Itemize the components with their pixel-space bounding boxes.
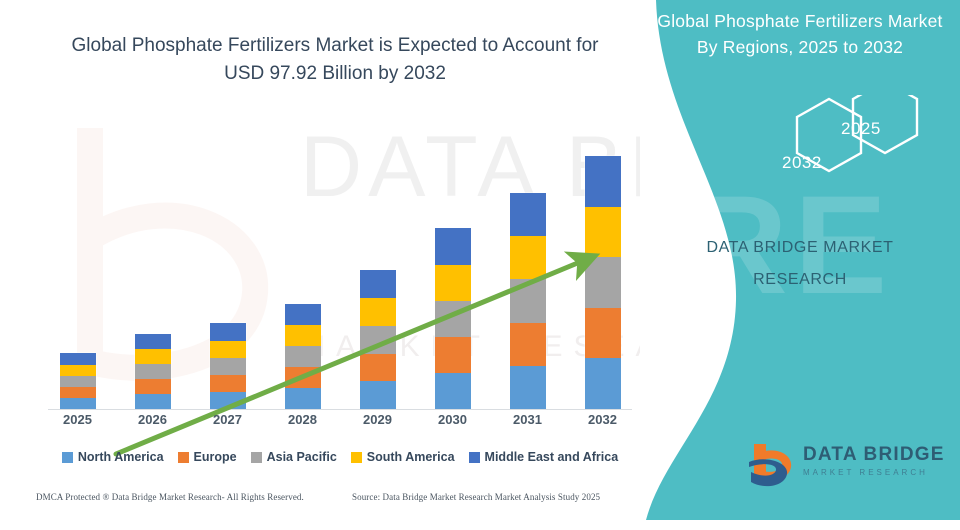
bar-segment-2032-s1 [585,308,621,359]
bar-segment-2028-s3 [285,325,321,346]
footer-source: Source: Data Bridge Market Research Mark… [352,492,600,502]
legend-label: Europe [194,450,237,464]
bar-segment-2029-s0 [360,381,396,409]
x-axis-label-2027: 2027 [198,412,258,427]
bar-2026 [135,334,171,409]
data-bridge-logo-icon [745,440,799,492]
bar-segment-2032-s0 [585,358,621,409]
bar-segment-2028-s4 [285,304,321,325]
bar-segment-2029-s1 [360,354,396,382]
bar-segment-2027-s1 [210,375,246,392]
bar-segment-2027-s3 [210,341,246,358]
bar-segment-2025-s3 [60,365,96,376]
bar-segment-2027-s2 [210,358,246,375]
panel-brand-line2: RESEARCH [640,264,960,296]
bar-2028 [285,304,321,409]
bar-2029 [360,270,396,409]
legend-label: South America [367,450,455,464]
hexagon-shapes [755,95,945,205]
legend-label: North America [78,450,164,464]
bar-segment-2030-s0 [435,373,471,409]
x-axis-line [48,409,632,410]
x-axis-label-2030: 2030 [423,412,483,427]
legend-swatch-icon [469,452,480,463]
bar-segment-2032-s3 [585,207,621,258]
x-axis-label-2032: 2032 [573,412,633,427]
panel-brand-line1: DATA BRIDGE MARKET [706,239,893,256]
bar-segment-2025-s2 [60,376,96,387]
infographic-root: DATA BRIDGE MARKET RESEARCH Global Phosp… [0,0,960,520]
bar-segment-2028-s2 [285,346,321,367]
bar-segment-2031-s3 [510,236,546,279]
bar-segment-2031-s1 [510,323,546,366]
bar-segment-2031-s0 [510,366,546,409]
bar-segment-2026-s3 [135,349,171,364]
bar-2032 [585,156,621,409]
legend-item-europe[interactable]: Europe [178,450,237,464]
legend-label: Asia Pacific [267,450,337,464]
company-logo: DATA BRIDGE MARKET RESEARCH [745,440,945,496]
left-content-area: DATA BRIDGE MARKET RESEARCH Global Phosp… [0,0,670,520]
page-title-line2: USD 97.92 Billion by 2032 [40,60,630,88]
page-title: Global Phosphate Fertilizers Market is E… [40,32,630,88]
panel-title: Global Phosphate Fertilizers Market By R… [640,8,960,60]
page-title-line1: Global Phosphate Fertilizers Market is E… [72,35,599,56]
x-axis-label-2026: 2026 [123,412,183,427]
legend-item-asia-pacific[interactable]: Asia Pacific [251,450,337,464]
logo-name: DATA BRIDGE [803,444,945,466]
bar-segment-2030-s4 [435,228,471,264]
legend-swatch-icon [178,452,189,463]
bar-segment-2029-s2 [360,326,396,354]
bar-segment-2025-s4 [60,353,96,364]
logo-text: DATA BRIDGE MARKET RESEARCH [803,444,945,480]
bar-segment-2032-s4 [585,156,621,207]
legend-item-middle-east-and-africa[interactable]: Middle East and Africa [469,450,619,464]
footer: DMCA Protected ® Data Bridge Market Rese… [0,492,670,512]
panel-brand: DATA BRIDGE MARKET RESEARCH [640,232,960,296]
x-axis-label-2031: 2031 [498,412,558,427]
bar-2025 [60,353,96,409]
x-axis-labels: 20252026202720282029203020312032 [40,412,640,434]
hexagon-pair: 2032 2025 [755,95,945,205]
bar-segment-2031-s2 [510,279,546,322]
panel-title-line1: Global Phosphate Fertilizers Market [657,11,942,31]
bar-2031 [510,193,546,409]
bar-segment-2025-s1 [60,387,96,398]
right-teal-panel: RE Global Phosphate Fertilizers Market B… [640,0,960,520]
bar-segment-2026-s2 [135,364,171,379]
x-axis-label-2029: 2029 [348,412,408,427]
legend-swatch-icon [251,452,262,463]
bar-segment-2031-s4 [510,193,546,236]
bar-segment-2027-s4 [210,323,246,340]
x-axis-label-2025: 2025 [48,412,108,427]
bar-segment-2030-s1 [435,337,471,373]
panel-title-line2: By Regions, 2025 to 2032 [640,34,960,60]
hexagon-2032-label: 2032 [782,153,822,173]
stacked-bar-chart [40,120,640,410]
bar-segment-2029-s4 [360,270,396,298]
bar-2030 [435,228,471,409]
legend-item-south-america[interactable]: South America [351,450,455,464]
bar-segment-2026-s4 [135,334,171,349]
chart-legend: North AmericaEuropeAsia PacificSouth Ame… [40,450,640,464]
legend-item-north-america[interactable]: North America [62,450,164,464]
bar-segment-2028-s0 [285,388,321,409]
x-axis-label-2028: 2028 [273,412,333,427]
bar-segment-2030-s2 [435,301,471,337]
legend-swatch-icon [62,452,73,463]
bar-segment-2027-s0 [210,392,246,409]
bar-segment-2030-s3 [435,265,471,301]
hexagon-2025-label: 2025 [841,119,881,139]
bar-segment-2032-s2 [585,257,621,308]
bar-segment-2026-s0 [135,394,171,409]
legend-swatch-icon [351,452,362,463]
footer-copyright: DMCA Protected ® Data Bridge Market Rese… [36,492,304,502]
bar-segment-2028-s1 [285,367,321,388]
bar-segment-2026-s1 [135,379,171,394]
bar-segment-2025-s0 [60,398,96,409]
logo-tagline: MARKET RESEARCH [803,466,945,480]
bar-2027 [210,323,246,409]
legend-label: Middle East and Africa [485,450,619,464]
bar-segment-2029-s3 [360,298,396,326]
bar-group [40,124,640,409]
